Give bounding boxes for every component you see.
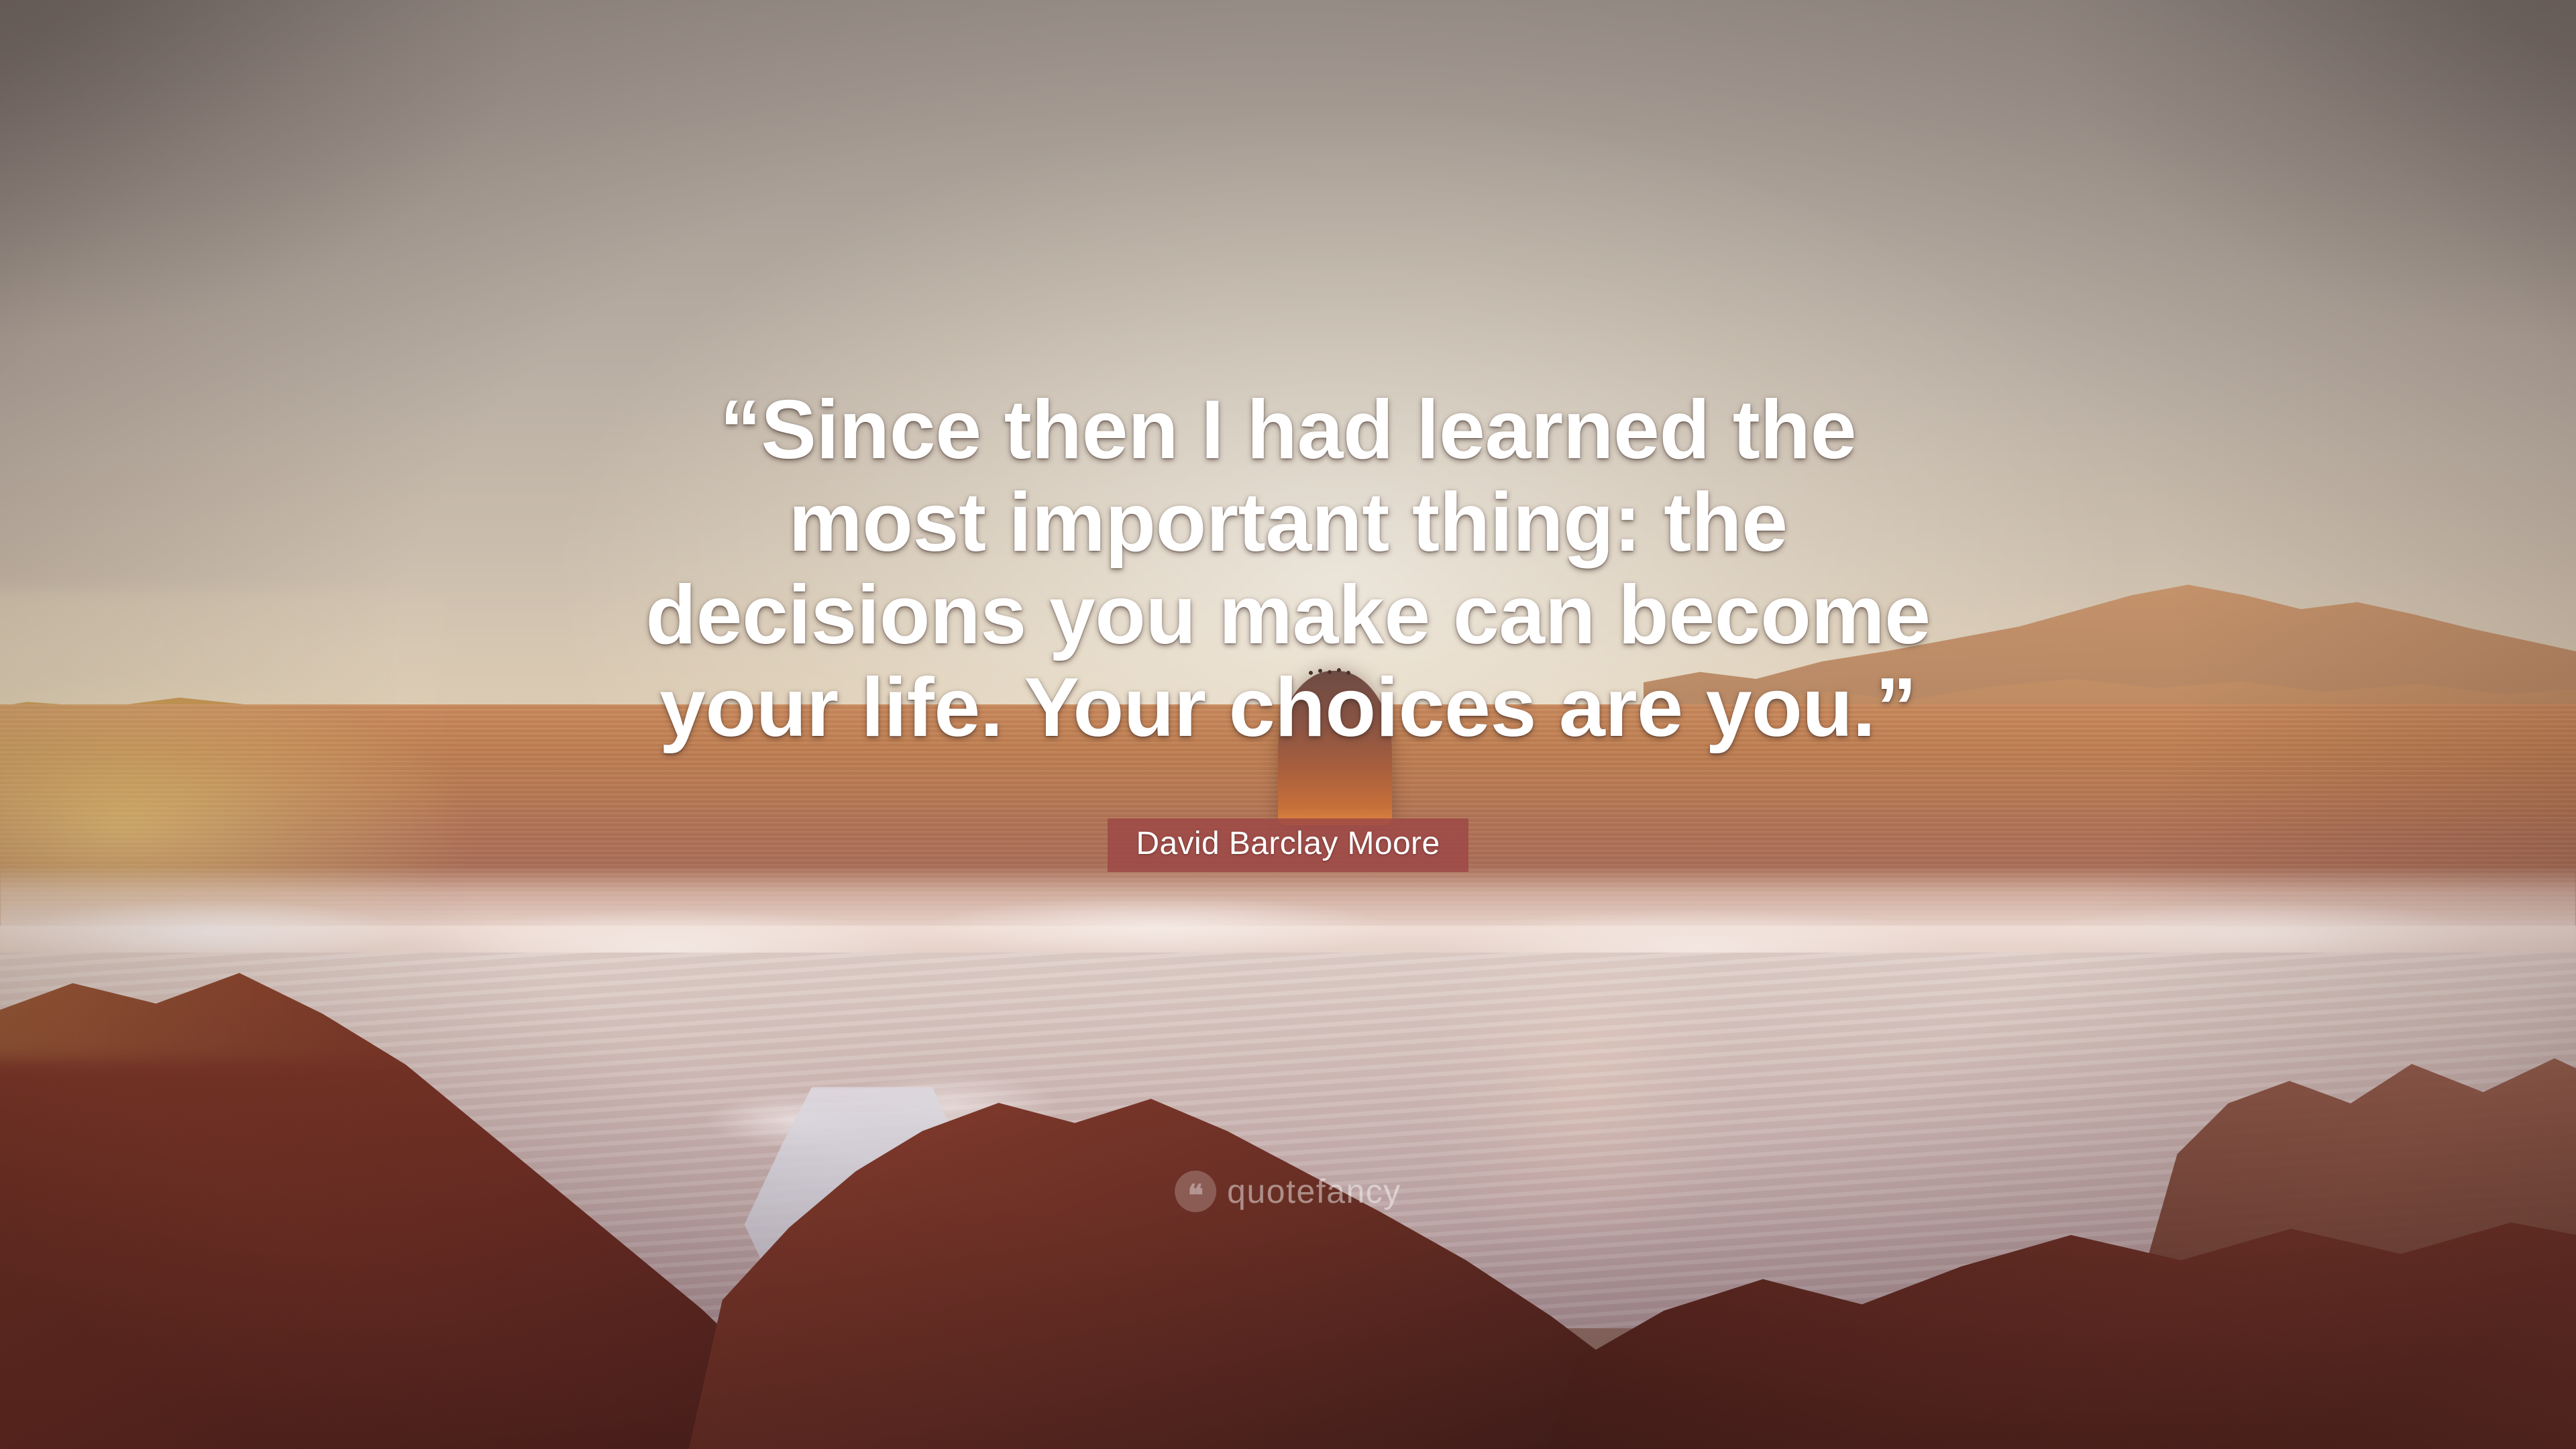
quote-poster: “Since then I had learned the most impor… — [0, 0, 2576, 1449]
author-attribution-badge: David Barclay Moore — [1108, 818, 1468, 872]
watermark-brand-label: quotefancy — [1227, 1172, 1401, 1211]
quote-text: “Since then I had learned the most impor… — [530, 384, 2046, 754]
overlay-content: “Since then I had learned the most impor… — [0, 0, 2576, 1449]
quote-mark-icon: ❝ — [1175, 1171, 1216, 1212]
quotefancy-watermark[interactable]: ❝ quotefancy — [1175, 1171, 1401, 1212]
